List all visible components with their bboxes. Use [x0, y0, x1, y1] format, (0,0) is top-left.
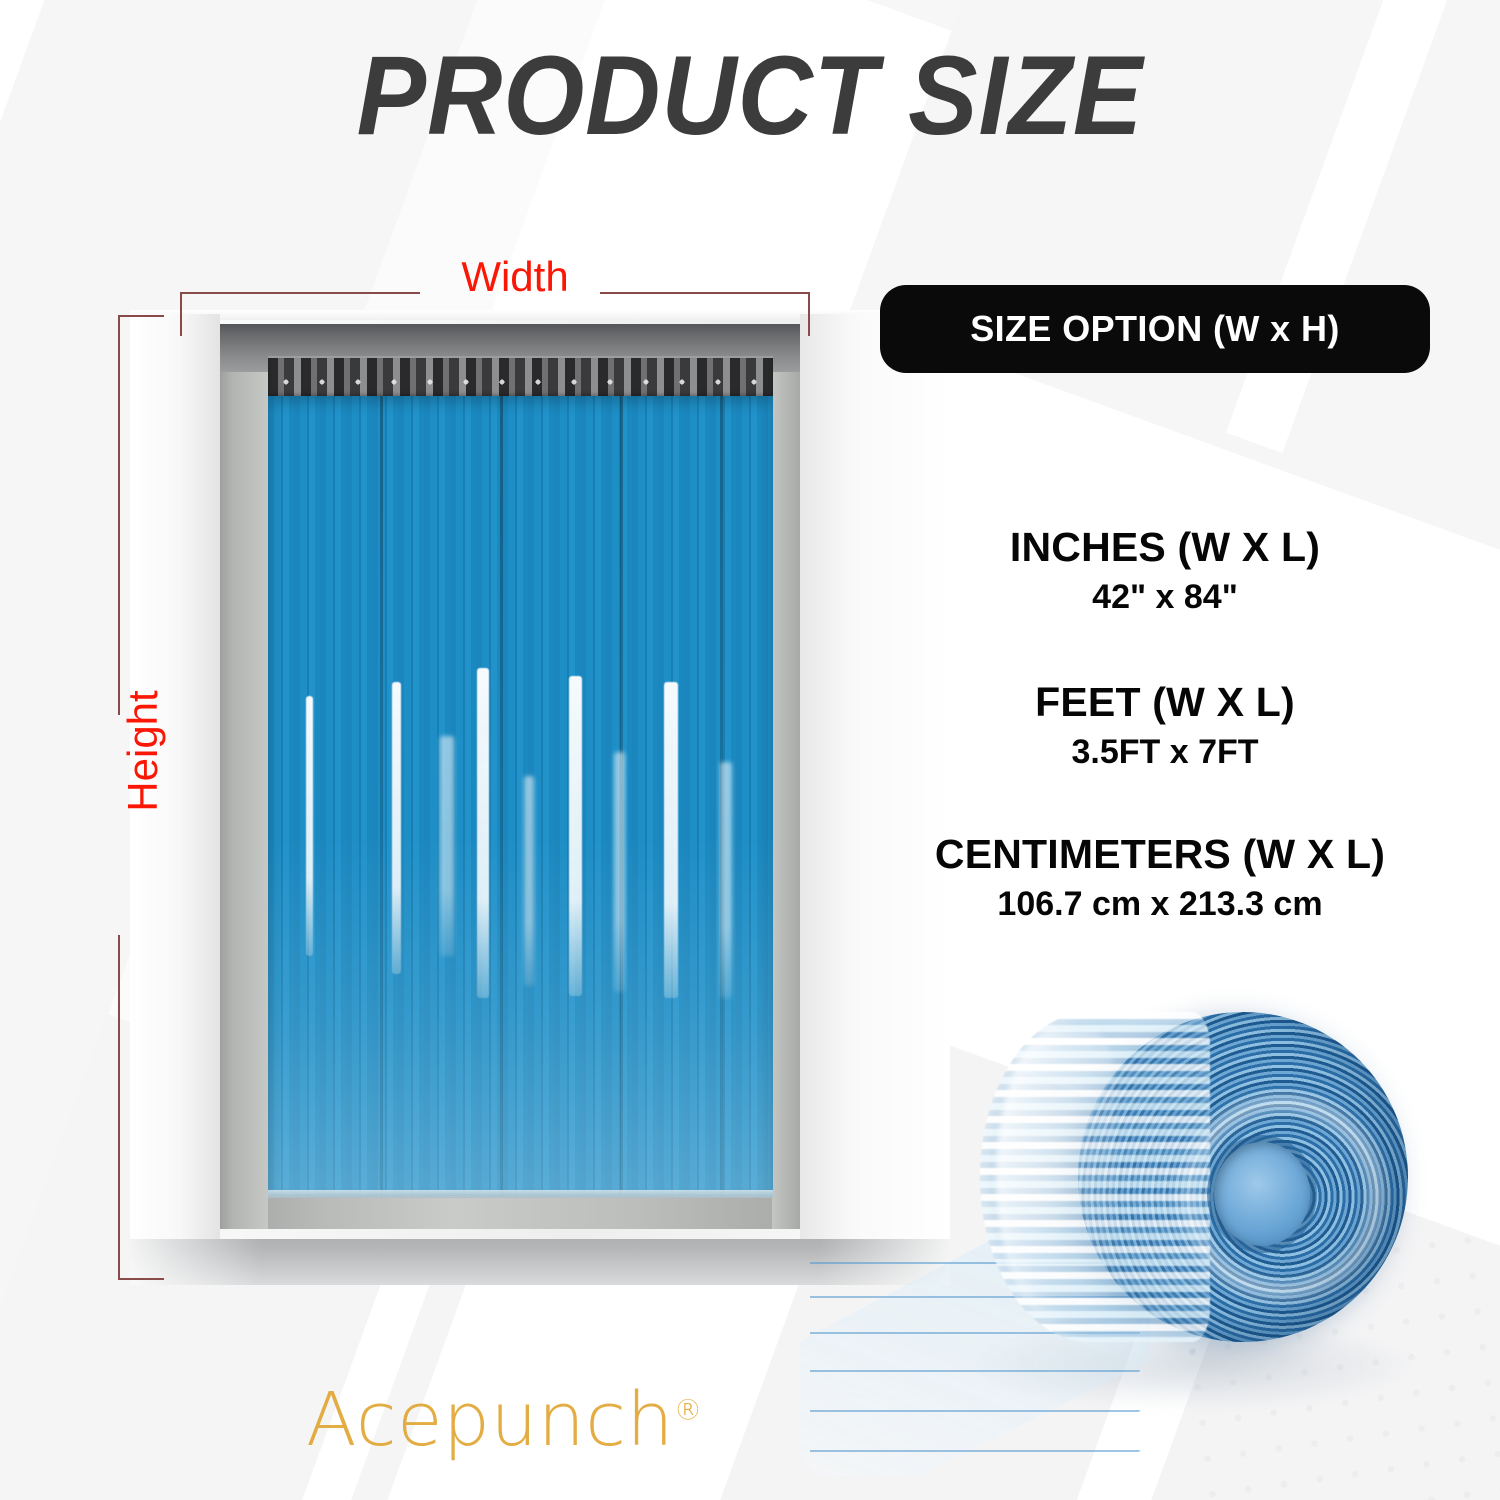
height-bracket-top-cap: [118, 315, 164, 317]
curtain-reflection-streak: [664, 682, 678, 998]
height-label: Height: [122, 651, 164, 851]
acepunch-watermark: Acepunch®: [306, 1383, 703, 1457]
roll-core-hole: [1214, 1142, 1310, 1246]
curtain-reflection-streak: [392, 682, 401, 974]
roll-tail-line: [810, 1410, 1140, 1412]
size-info-panel: SIZE OPTION (W x H) INCHES (W X L) 42" x…: [870, 0, 1490, 1000]
pvc-strip-roll-illustration: [810, 990, 1500, 1490]
curtain-reflection-streak: [569, 676, 582, 996]
roll-side-highlight: [996, 1030, 1116, 1322]
width-bracket-left-cap: [180, 292, 182, 336]
spec-inches-key: INCHES (W X L): [870, 525, 1460, 571]
curtain-reflection-streak: [614, 752, 625, 992]
height-dimension-bracket: Height: [118, 315, 164, 1280]
size-option-badge: SIZE OPTION (W x H): [880, 285, 1430, 373]
spec-feet-key: FEET (W X L): [870, 680, 1460, 726]
width-label: Width: [435, 256, 595, 298]
width-bracket-right-cap: [808, 292, 810, 336]
width-bracket-right-line: [600, 292, 810, 294]
watermark-text: Acepunch: [306, 1377, 674, 1463]
spec-centimeters: CENTIMETERS (W X L) 106.7 cm x 213.3 cm: [865, 832, 1455, 926]
mounting-rail-holes: [268, 376, 773, 388]
height-bracket-top-line: [118, 315, 120, 715]
curtain-reflection-streak: [477, 668, 489, 998]
spec-feet-value: 3.5FT x 7FT: [870, 730, 1460, 774]
spec-inches: INCHES (W X L) 42" x 84": [870, 525, 1460, 619]
roll-tail-line: [810, 1450, 1140, 1452]
curtain-reflection-streak: [306, 696, 313, 956]
height-bracket-bottom-cap: [118, 1278, 164, 1280]
registered-trademark-icon: ®: [674, 1393, 703, 1426]
curtain-bottom-edge: [268, 1190, 773, 1198]
spec-centimeters-value: 106.7 cm x 213.3 cm: [865, 882, 1455, 926]
size-option-badge-label: SIZE OPTION (W x H): [970, 308, 1340, 350]
curtain-panel-seam: [380, 396, 383, 1196]
curtain-panel-seam: [500, 396, 503, 1196]
curtain-reflection-streak: [720, 762, 732, 998]
spec-inches-value: 42" x 84": [870, 575, 1460, 619]
spec-centimeters-key: CENTIMETERS (W X L): [865, 832, 1455, 878]
pvc-strip-curtain: [268, 396, 773, 1196]
curtain-reflection-streak: [524, 776, 534, 986]
curtain-reflection-streak: [440, 736, 454, 956]
roll-tail-line: [810, 1370, 1140, 1372]
width-bracket-left-line: [180, 292, 420, 294]
spec-feet: FEET (W X L) 3.5FT x 7FT: [870, 680, 1460, 774]
height-bracket-bottom-line: [118, 935, 120, 1280]
width-dimension-bracket: Width: [180, 292, 810, 336]
